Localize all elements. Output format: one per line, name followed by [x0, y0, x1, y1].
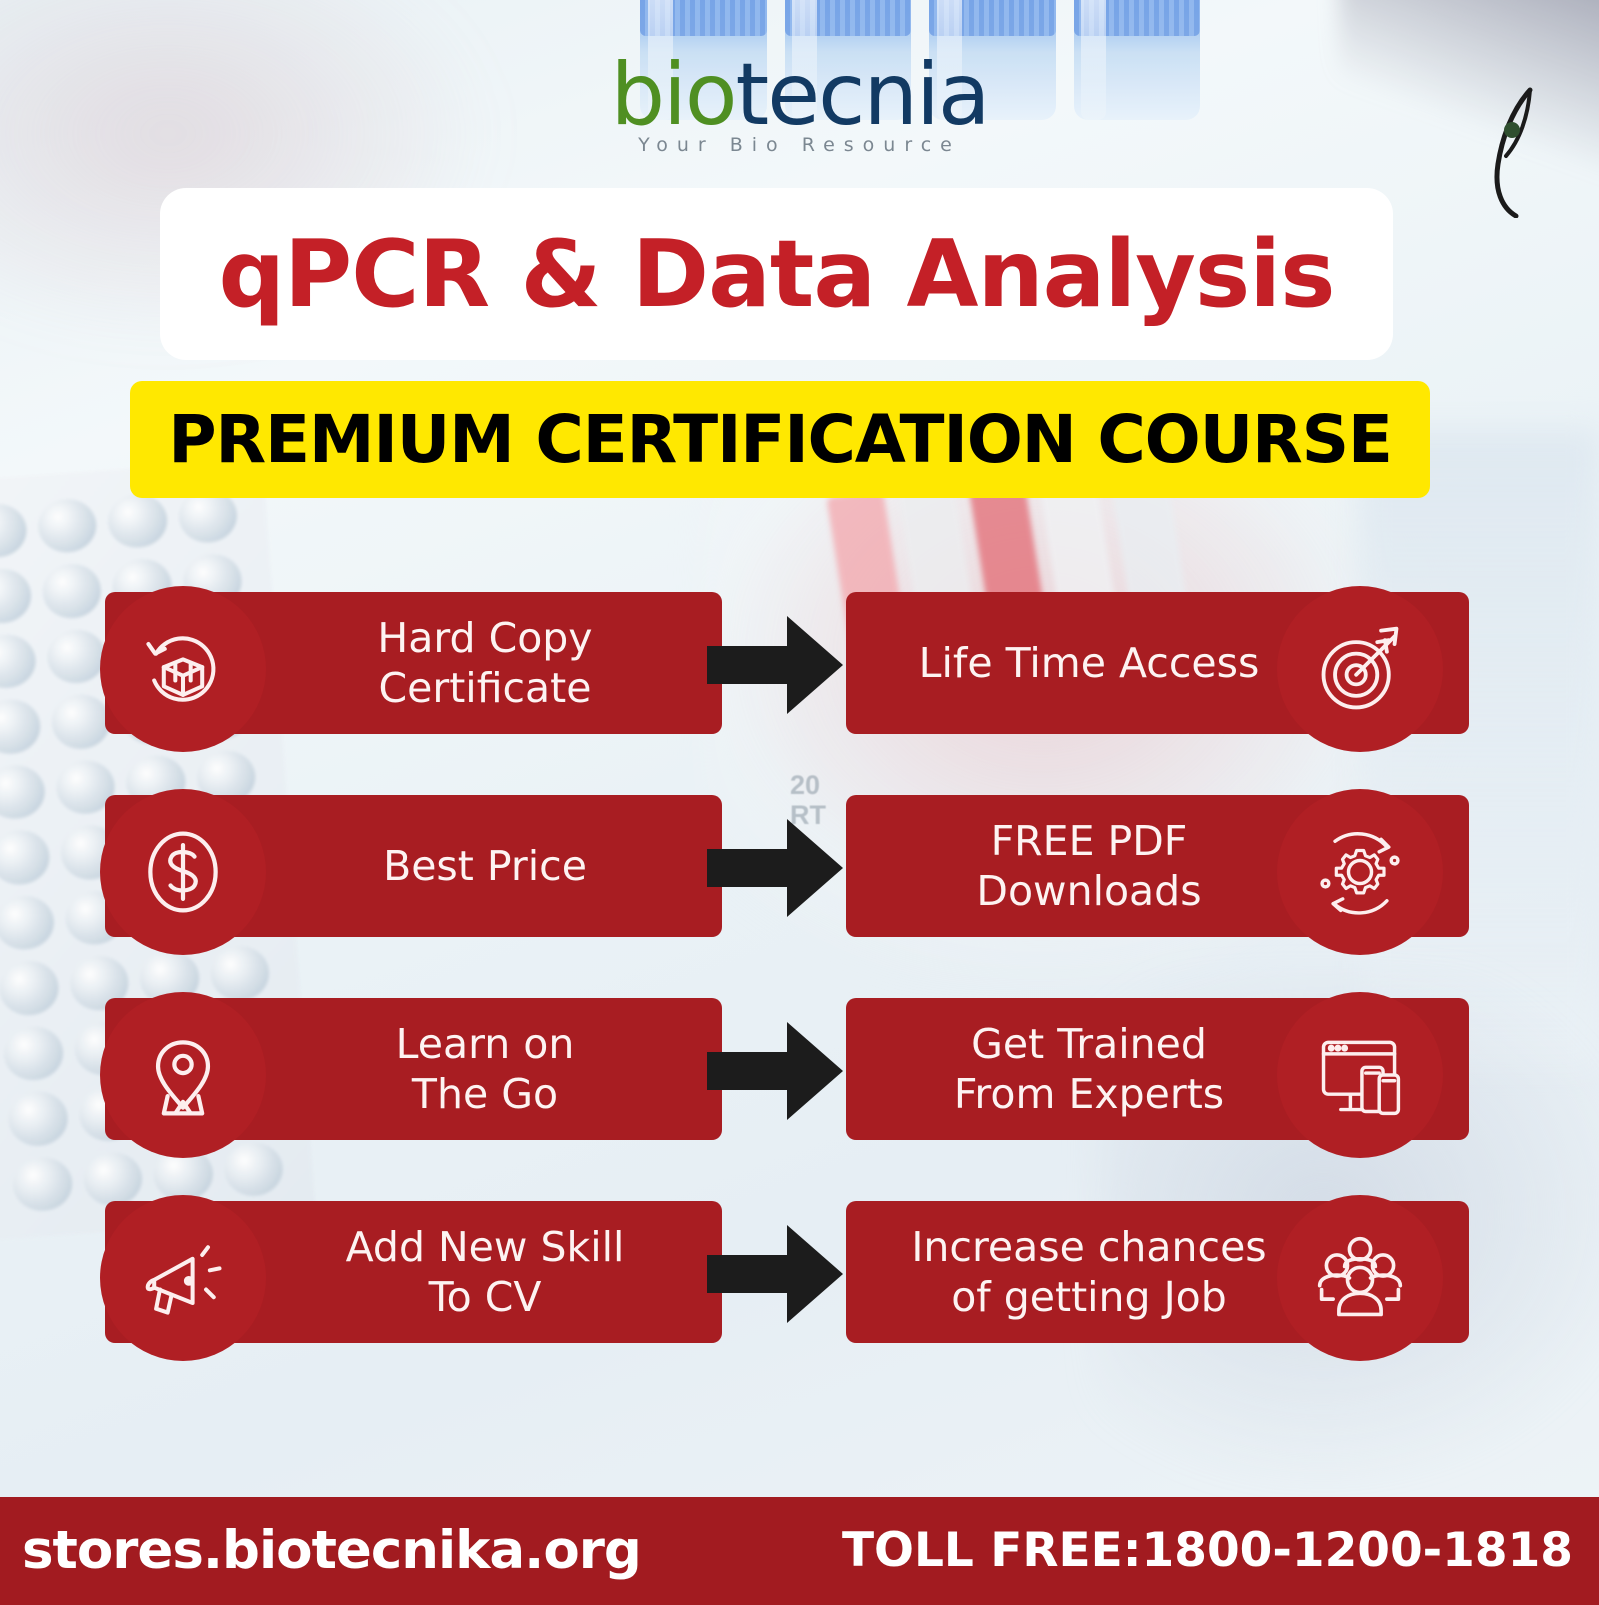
- logo-text-bio: bio: [610, 52, 735, 138]
- footer-website-url[interactable]: stores.biotecnika.org: [22, 1523, 641, 1579]
- subtitle-banner: PREMIUM CERTIFICATION COURSE: [130, 381, 1430, 498]
- brand-logo: biotecnia Your Bio Resource: [0, 52, 1599, 156]
- footer-toll-free-number[interactable]: TOLL FREE:1800-1200-1818: [842, 1526, 1573, 1576]
- right-arrow-icon: [705, 610, 845, 720]
- dollar-coin-icon: [100, 789, 266, 955]
- multi-device-screens-icon: [1277, 992, 1443, 1158]
- target-dartboard-arrow-icon: [1277, 586, 1443, 752]
- gear-cycle-icon: [1277, 789, 1443, 955]
- megaphone-icon: [100, 1195, 266, 1361]
- title-card: qPCR & Data Analysis: [160, 188, 1393, 360]
- page-subtitle: PREMIUM CERTIFICATION COURSE: [168, 406, 1392, 474]
- feature-row: Learn on The Go Get Trained From Experts: [0, 998, 1599, 1153]
- feature-label-right: Increase chances of getting Job: [874, 1222, 1304, 1322]
- package-box-refresh-icon: [100, 586, 266, 752]
- right-arrow-icon: [705, 1219, 845, 1329]
- logo-human-swoosh-icon: [1472, 86, 1552, 218]
- feature-label-right: FREE PDF Downloads: [874, 816, 1304, 916]
- feature-row: Add New Skill To CV Increase chances of …: [0, 1201, 1599, 1356]
- location-pin-icon: [100, 992, 266, 1158]
- feature-list: Hard Copy Certificate Life Time Access: [0, 592, 1599, 1404]
- feature-row: Best Price FREE PDF Downloads: [0, 795, 1599, 950]
- feature-row: Hard Copy Certificate Life Time Access: [0, 592, 1599, 747]
- right-arrow-icon: [705, 813, 845, 923]
- logo-text-a: a: [938, 52, 989, 138]
- feature-label-left: Best Price: [270, 841, 700, 891]
- right-arrow-icon: [705, 1016, 845, 1126]
- group-people-icon: [1277, 1195, 1443, 1361]
- feature-label-left: Learn on The Go: [270, 1019, 700, 1119]
- feature-label-left: Hard Copy Certificate: [270, 613, 700, 713]
- page-title: qPCR & Data Analysis: [218, 226, 1334, 322]
- feature-label-left: Add New Skill To CV: [270, 1222, 700, 1322]
- footer-bar: stores.biotecnika.org TOLL FREE:1800-120…: [0, 1497, 1599, 1605]
- feature-label-right: Life Time Access: [874, 638, 1304, 688]
- logo-text-tecni: tecni: [736, 52, 938, 138]
- feature-label-right: Get Trained From Experts: [874, 1019, 1304, 1119]
